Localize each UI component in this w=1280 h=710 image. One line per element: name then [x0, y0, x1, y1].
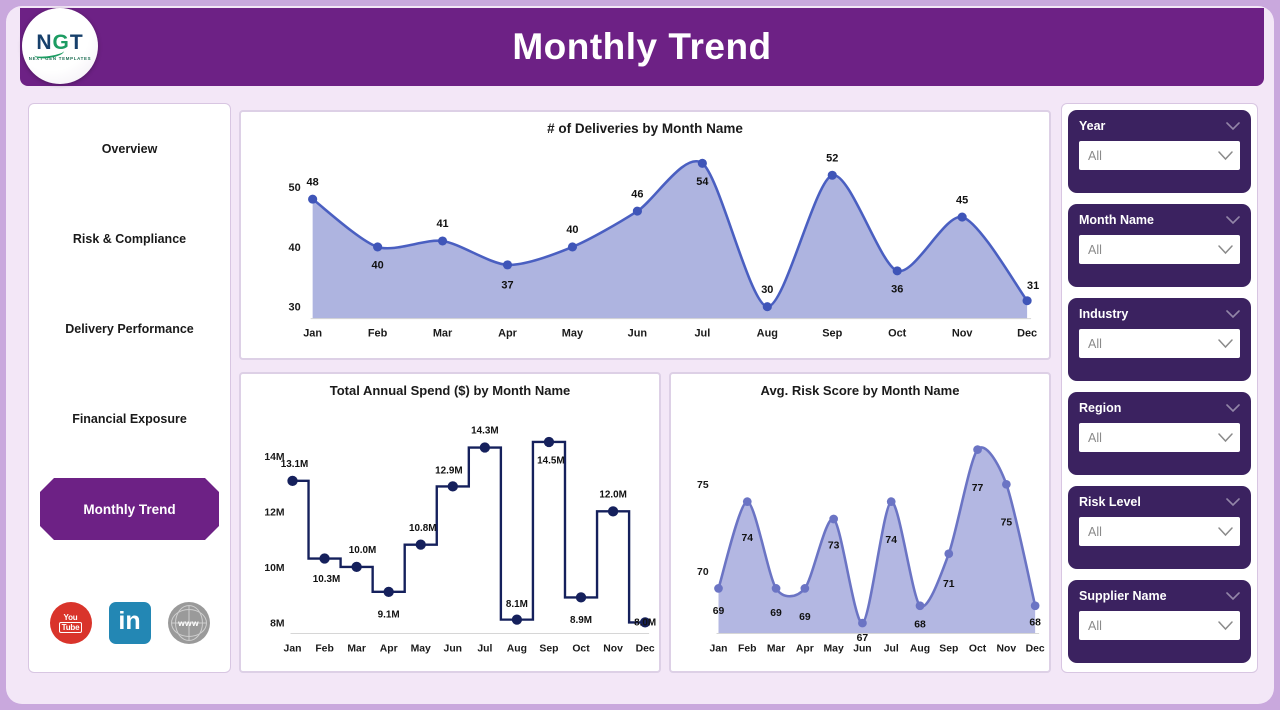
svg-text:75: 75 — [697, 480, 709, 491]
svg-text:48: 48 — [307, 176, 319, 188]
svg-text:30: 30 — [289, 302, 301, 314]
svg-text:31: 31 — [1027, 280, 1039, 292]
svg-text:67: 67 — [857, 633, 869, 644]
svg-text:Jun: Jun — [628, 327, 647, 339]
svg-text:36: 36 — [891, 284, 903, 296]
svg-text:8.0M: 8.0M — [634, 617, 656, 628]
slicer-title: Region — [1079, 401, 1121, 415]
chart-card-deliveries[interactable]: # of Deliveries by Month Name 3040504840… — [239, 110, 1051, 360]
svg-text:Jun: Jun — [853, 643, 871, 654]
svg-text:46: 46 — [631, 188, 643, 200]
sidebar-item-delivery-performance[interactable]: Delivery Performance — [40, 298, 219, 360]
ngt-logo: NGT NEXT GEN TEMPLATES — [22, 8, 98, 84]
svg-text:Jun: Jun — [444, 643, 462, 654]
chevron-down-icon — [1218, 339, 1233, 349]
svg-text:12.9M: 12.9M — [435, 466, 463, 477]
svg-text:73: 73 — [828, 541, 840, 552]
sidebar-item-label: Delivery Performance — [57, 322, 202, 336]
chart-plot-spend: 8M10M12M14M13.1M10.3M10.0M9.1M10.8M12.9M… — [241, 374, 659, 671]
svg-text:14.3M: 14.3M — [471, 426, 499, 437]
svg-text:Dec: Dec — [1026, 643, 1045, 654]
svg-text:41: 41 — [436, 218, 448, 230]
youtube-icon[interactable]: You Tube — [50, 602, 92, 644]
sidebar-item-label: Financial Exposure — [64, 412, 195, 426]
slicer-title: Supplier Name — [1079, 589, 1167, 603]
slicer-dropdown[interactable]: All — [1079, 517, 1240, 546]
svg-text:8M: 8M — [270, 618, 284, 629]
svg-text:Apr: Apr — [498, 327, 518, 339]
chart-plot-deliveries: 304050484041374046543052364531JanFebMarA… — [241, 112, 1049, 358]
page-title: Monthly Trend — [512, 26, 771, 68]
slicer-industry[interactable]: Industry All — [1068, 298, 1251, 381]
chevron-down-icon — [1218, 527, 1233, 537]
svg-text:8.1M: 8.1M — [506, 599, 528, 610]
sidebar-nav: Overview Risk & Compliance Delivery Perf… — [29, 104, 230, 540]
chevron-down-icon — [1218, 433, 1233, 443]
svg-text:Sep: Sep — [539, 643, 558, 654]
svg-text:40: 40 — [566, 224, 578, 236]
slicer-value: All — [1088, 243, 1102, 257]
youtube-line1: You — [59, 613, 83, 622]
svg-text:68: 68 — [1029, 617, 1041, 628]
svg-text:Oct: Oct — [969, 643, 987, 654]
svg-text:69: 69 — [713, 606, 725, 617]
social-links: You Tube in www — [29, 602, 230, 644]
sidebar-item-monthly-trend[interactable]: Monthly Trend — [40, 478, 219, 540]
svg-text:50: 50 — [289, 182, 301, 194]
svg-text:68: 68 — [914, 619, 926, 630]
slicer-risk-level[interactable]: Risk Level All — [1068, 486, 1251, 569]
filter-panel: Year All Month Name All — [1061, 103, 1258, 673]
svg-text:Dec: Dec — [636, 643, 655, 654]
page-header: Monthly Trend — [20, 8, 1264, 86]
svg-text:Mar: Mar — [347, 643, 365, 654]
slicer-value: All — [1088, 431, 1102, 445]
svg-text:Oct: Oct — [572, 643, 590, 654]
slicer-title: Risk Level — [1079, 495, 1141, 509]
svg-text:Jan: Jan — [710, 643, 728, 654]
svg-text:74: 74 — [885, 535, 897, 546]
svg-text:77: 77 — [972, 483, 984, 494]
svg-text:Jan: Jan — [284, 643, 302, 654]
slicer-value: All — [1088, 149, 1102, 163]
svg-text:May: May — [824, 643, 844, 654]
svg-text:Oct: Oct — [888, 327, 907, 339]
slicer-title: Month Name — [1079, 213, 1154, 227]
svg-text:69: 69 — [770, 608, 782, 619]
svg-text:Feb: Feb — [368, 327, 388, 339]
dashboard-page: Monthly Trend NGT NEXT GEN TEMPLATES Ove… — [0, 0, 1280, 710]
slicer-dropdown[interactable]: All — [1079, 235, 1240, 264]
slicer-title: Year — [1079, 119, 1105, 133]
slicer-month-name[interactable]: Month Name All — [1068, 204, 1251, 287]
sidebar-item-label: Overview — [94, 142, 166, 156]
svg-text:13.1M: 13.1M — [281, 459, 309, 470]
svg-text:Sep: Sep — [822, 327, 842, 339]
svg-text:40: 40 — [372, 260, 384, 272]
logo-letter-t: T — [70, 31, 84, 54]
svg-text:8.9M: 8.9M — [570, 615, 592, 626]
slicer-value: All — [1088, 525, 1102, 539]
svg-text:10.0M: 10.0M — [349, 545, 377, 556]
chevron-down-icon — [1226, 498, 1240, 507]
website-icon[interactable]: www — [168, 602, 210, 644]
chevron-down-icon — [1218, 151, 1233, 161]
svg-text:Nov: Nov — [952, 327, 973, 339]
svg-text:Dec: Dec — [1017, 327, 1037, 339]
svg-text:Apr: Apr — [380, 643, 398, 654]
chevron-down-icon — [1226, 404, 1240, 413]
chart-card-risk[interactable]: Avg. Risk Score by Month Name 7075697469… — [669, 372, 1051, 673]
svg-text:Jul: Jul — [694, 327, 710, 339]
chevron-down-icon — [1226, 310, 1240, 319]
svg-text:Aug: Aug — [507, 643, 527, 654]
svg-text:12.0M: 12.0M — [599, 490, 627, 501]
svg-text:Jul: Jul — [884, 643, 899, 654]
chevron-down-icon — [1226, 592, 1240, 601]
linkedin-icon[interactable]: in — [109, 602, 151, 644]
svg-text:52: 52 — [826, 153, 838, 165]
svg-text:14.5M: 14.5M — [537, 456, 565, 467]
svg-text:Apr: Apr — [796, 643, 814, 654]
svg-text:10.3M: 10.3M — [313, 574, 341, 585]
website-label: www — [178, 618, 199, 628]
slicer-dropdown[interactable]: All — [1079, 141, 1240, 170]
svg-text:37: 37 — [501, 280, 513, 292]
svg-text:Feb: Feb — [315, 643, 333, 654]
sidebar-item-label: Monthly Trend — [75, 502, 183, 517]
sidebar: Overview Risk & Compliance Delivery Perf… — [28, 103, 231, 673]
slicer-dropdown[interactable]: All — [1079, 329, 1240, 358]
svg-text:Aug: Aug — [757, 327, 778, 339]
slicer-region[interactable]: Region All — [1068, 392, 1251, 475]
svg-text:Sep: Sep — [939, 643, 958, 654]
svg-text:Feb: Feb — [738, 643, 756, 654]
svg-text:45: 45 — [956, 194, 968, 206]
svg-text:12M: 12M — [264, 507, 284, 518]
svg-text:10M: 10M — [264, 563, 284, 574]
sidebar-item-risk-compliance[interactable]: Risk & Compliance — [40, 208, 219, 270]
slicer-supplier-name[interactable]: Supplier Name All — [1068, 580, 1251, 663]
sidebar-item-financial-exposure[interactable]: Financial Exposure — [40, 388, 219, 450]
chart-plot-risk: 7075697469697367746871777568JanFebMarApr… — [671, 374, 1049, 671]
chevron-down-icon — [1226, 216, 1240, 225]
slicer-year[interactable]: Year All — [1068, 110, 1251, 193]
sidebar-item-overview[interactable]: Overview — [40, 118, 219, 180]
linkedin-label: in — [118, 609, 140, 634]
chart-card-spend[interactable]: Total Annual Spend ($) by Month Name 8M1… — [239, 372, 661, 673]
svg-text:Mar: Mar — [433, 327, 453, 339]
slicer-value: All — [1088, 337, 1102, 351]
svg-text:Mar: Mar — [767, 643, 785, 654]
svg-text:9.1M: 9.1M — [378, 610, 400, 621]
svg-text:30: 30 — [761, 284, 773, 296]
svg-text:74: 74 — [742, 533, 754, 544]
svg-text:40: 40 — [289, 242, 301, 254]
svg-text:54: 54 — [696, 176, 708, 188]
svg-text:Aug: Aug — [910, 643, 930, 654]
svg-text:May: May — [562, 327, 583, 339]
chevron-down-icon — [1218, 621, 1233, 631]
youtube-line2: Tube — [59, 622, 83, 633]
sidebar-item-label: Risk & Compliance — [65, 232, 194, 246]
svg-text:10.8M: 10.8M — [409, 523, 437, 534]
slicer-title: Industry — [1079, 307, 1128, 321]
slicer-dropdown[interactable]: All — [1079, 423, 1240, 452]
report-canvas: Monthly Trend NGT NEXT GEN TEMPLATES Ove… — [6, 6, 1274, 704]
slicer-value: All — [1088, 619, 1102, 633]
svg-text:69: 69 — [799, 612, 811, 623]
svg-text:Nov: Nov — [603, 643, 623, 654]
svg-text:70: 70 — [697, 567, 709, 578]
svg-text:Jan: Jan — [303, 327, 322, 339]
svg-text:75: 75 — [1001, 518, 1013, 529]
svg-text:Nov: Nov — [997, 643, 1017, 654]
slicer-dropdown[interactable]: All — [1079, 611, 1240, 640]
chevron-down-icon — [1218, 245, 1233, 255]
svg-text:May: May — [411, 643, 431, 654]
svg-text:Jul: Jul — [477, 643, 492, 654]
svg-text:71: 71 — [943, 579, 955, 590]
chevron-down-icon — [1226, 122, 1240, 131]
